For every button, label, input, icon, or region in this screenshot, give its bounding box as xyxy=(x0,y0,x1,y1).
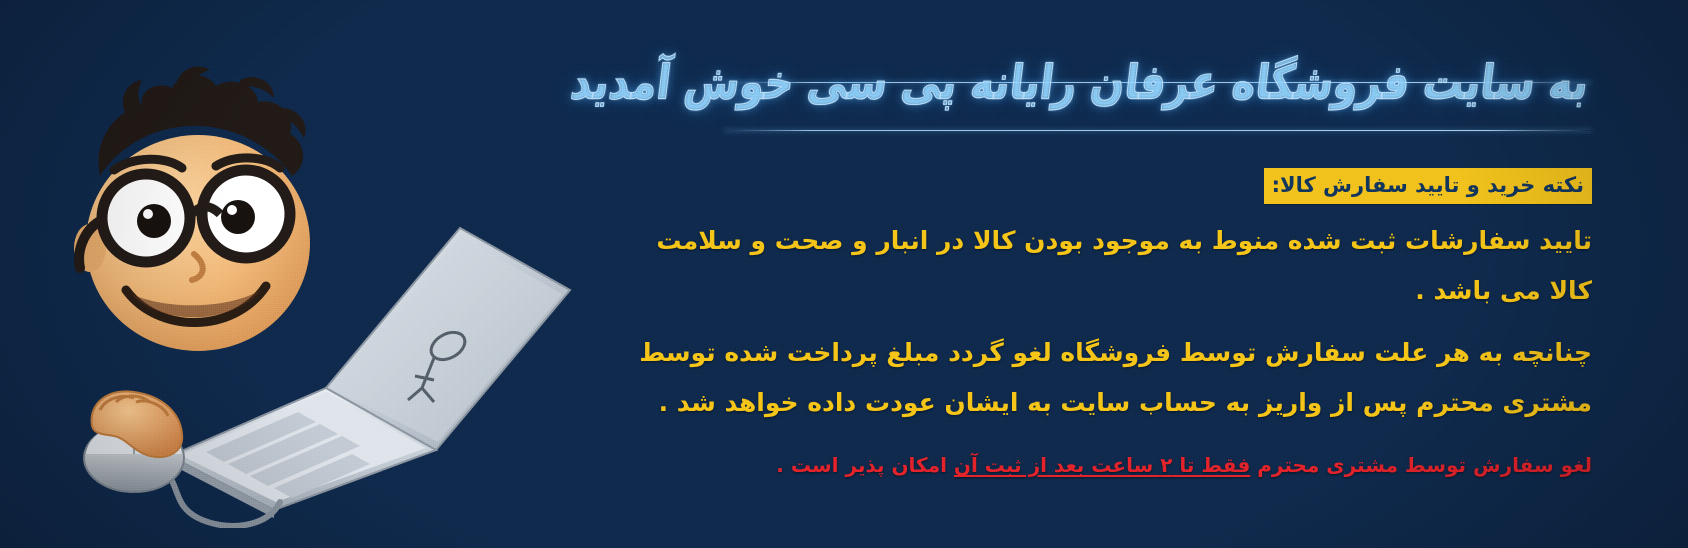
headline-text: به سایت فروشگاه عرفان رایانه پی سی خوش آ… xyxy=(567,56,1591,110)
warning-underlined: فقط تا ۲ ساعت بعد از ثبت آن xyxy=(954,453,1250,477)
warning-suffix: امکان پذیر است . xyxy=(776,453,954,477)
paragraph-refund-policy: چنانچه به هر علت سفارش توسط فروشگاه لغو … xyxy=(592,328,1592,428)
cartoon-head xyxy=(74,66,310,351)
warning-prefix: لغو سفارش توسط مشتری محترم xyxy=(1250,453,1592,477)
cartoon-illustration xyxy=(30,58,640,528)
banner-text-column: به سایت فروشگاه عرفان رایانه پی سی خوش آ… xyxy=(592,62,1592,480)
headline-rule-bottom xyxy=(724,130,1592,131)
paragraph-line: تایید سفارشات ثبت شده منوط به موجود بودن… xyxy=(592,216,1592,266)
highlight-row: نکته خرید و تایید سفارش کالا: xyxy=(592,168,1592,202)
welcome-headline: به سایت فروشگاه عرفان رایانه پی سی خوش آ… xyxy=(592,62,1592,154)
paragraph-line: مشتری محترم پس از واریز به حساب سایت به … xyxy=(592,378,1592,428)
cancellation-warning: لغو سفارش توسط مشتری محترم فقط تا ۲ ساعت… xyxy=(592,450,1592,480)
paragraph-line: چنانچه به هر علت سفارش توسط فروشگاه لغو … xyxy=(592,328,1592,378)
purchase-note-heading: نکته خرید و تایید سفارش کالا: xyxy=(1264,168,1592,204)
promo-banner: به سایت فروشگاه عرفان رایانه پی سی خوش آ… xyxy=(0,0,1688,548)
paragraph-line: کالا می باشد . xyxy=(592,266,1592,316)
paragraph-order-confirmation: تایید سفارشات ثبت شده منوط به موجود بودن… xyxy=(592,216,1592,316)
